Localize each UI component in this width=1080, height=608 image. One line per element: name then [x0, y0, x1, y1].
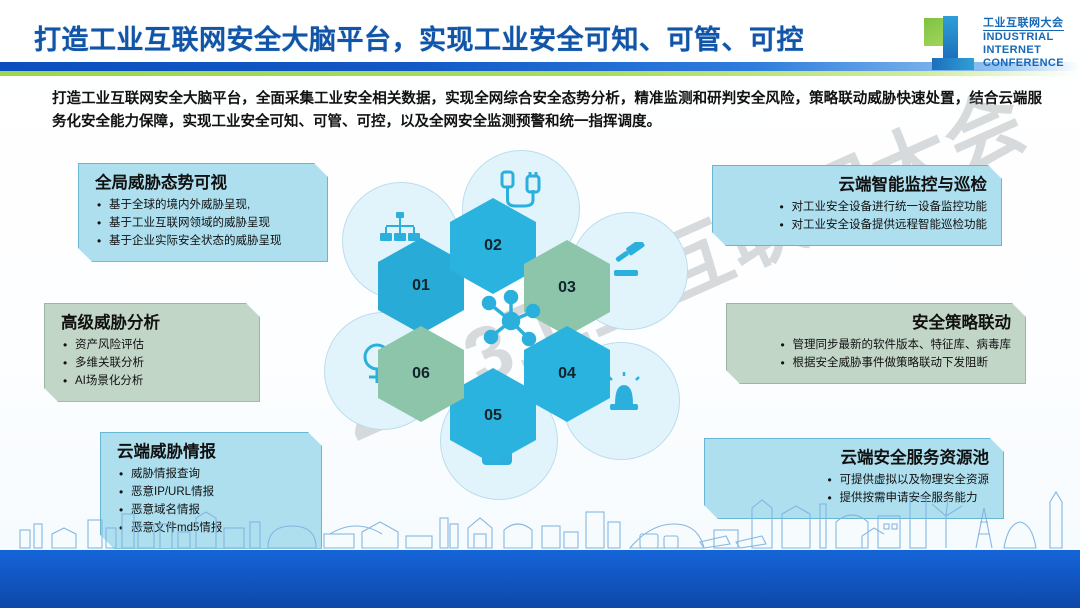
callout-policy-link[interactable]: 安全策略联动 管理同步最新的软件版本、特征库、病毒库 根据安全威胁事件做策略联动… [726, 303, 1026, 384]
logo-chinese-name: 工业互联网大会 [983, 17, 1064, 32]
callout-threat-visual-list: 基于全球的境内外威胁呈现, 基于工业互联网领域的威胁呈现 基于企业实际安全状态的… [95, 197, 313, 250]
callout-threat-visual[interactable]: 全局威胁态势可视 基于全球的境内外威胁呈现, 基于工业互联网领域的威胁呈现 基于… [78, 163, 328, 262]
logo-english-line2: INTERNET [983, 44, 1064, 57]
callout-policy-link-title: 安全策略联动 [743, 313, 1011, 334]
conference-logo: 工业互联网大会 INDUSTRIAL INTERNET CONFERENCE [924, 16, 1064, 70]
callout-cloud-monitor-title: 云端智能监控与巡检 [729, 175, 987, 196]
list-item: 基于工业互联网领域的威胁呈现 [95, 215, 313, 233]
list-item: 根据安全威胁事件做策略联动下发阻断 [779, 355, 1012, 373]
header-rule-green [0, 71, 1080, 76]
list-item: 基于企业实际安全状态的威胁呈现 [95, 233, 313, 251]
list-item: 资产风险评估 [61, 337, 245, 355]
callout-policy-link-list: 管理同步最新的软件版本、特征库、病毒库 根据安全威胁事件做策略联动下发阻断 [779, 337, 1012, 373]
list-item: 对工业安全设备进行统一设备监控功能 [778, 199, 988, 217]
hex-04-number: 04 [558, 365, 576, 383]
network-hub-icon [480, 290, 542, 357]
list-item: 多维关联分析 [61, 355, 245, 373]
footer-band [0, 550, 1080, 608]
list-item: 对工业安全设备提供远程智能巡检功能 [778, 217, 988, 235]
hex-02-number: 02 [484, 237, 502, 255]
callout-adv-analysis-title: 高级威胁分析 [61, 313, 245, 334]
hex-01-number: 01 [412, 277, 430, 295]
hex-06-number: 06 [412, 365, 430, 383]
slide-canvas: 打造工业互联网安全大脑平台，实现工业安全可知、可管、可控 工业互联网大会 IND… [0, 0, 1080, 608]
industrial-skyline-icon [0, 478, 1080, 550]
alarm-light-icon [604, 372, 644, 419]
list-item: AI场景化分析 [61, 373, 245, 391]
callout-cloud-intel-title: 云端威胁情报 [117, 442, 307, 463]
list-item: 管理同步最新的软件版本、特征库、病毒库 [779, 337, 1012, 355]
hex-cluster-diagram: 01 02 03 04 05 06 [330, 150, 700, 520]
logo-english-line1: INDUSTRIAL [983, 31, 1064, 44]
list-item: 基于全球的境内外威胁呈现, [95, 197, 313, 215]
callout-adv-analysis[interactable]: 高级威胁分析 资产风险评估 多维关联分析 AI场景化分析 [44, 303, 260, 402]
header-rule-blue [0, 62, 1080, 71]
callout-adv-analysis-list: 资产风险评估 多维关联分析 AI场景化分析 [61, 337, 245, 390]
gavel-icon [612, 242, 656, 285]
logo-mark-icon [924, 16, 976, 70]
logo-english-line3: CONFERENCE [983, 57, 1064, 70]
callout-cloud-monitor[interactable]: 云端智能监控与巡检 对工业安全设备进行统一设备监控功能 对工业安全设备提供远程智… [712, 165, 1002, 246]
callout-cloud-pool-title: 云端安全服务资源池 [721, 448, 989, 469]
hex-05-number: 05 [484, 407, 502, 425]
hex-03-number: 03 [558, 279, 576, 297]
callout-threat-visual-title: 全局威胁态势可视 [95, 173, 313, 194]
lead-paragraph: 打造工业互联网安全大脑平台，全面采集工业安全相关数据，实现全网综合安全态势分析，… [52, 88, 1042, 135]
page-title: 打造工业互联网安全大脑平台，实现工业安全可知、可管、可控 [34, 18, 804, 57]
callout-cloud-monitor-list: 对工业安全设备进行统一设备监控功能 对工业安全设备提供远程智能巡检功能 [778, 199, 988, 235]
